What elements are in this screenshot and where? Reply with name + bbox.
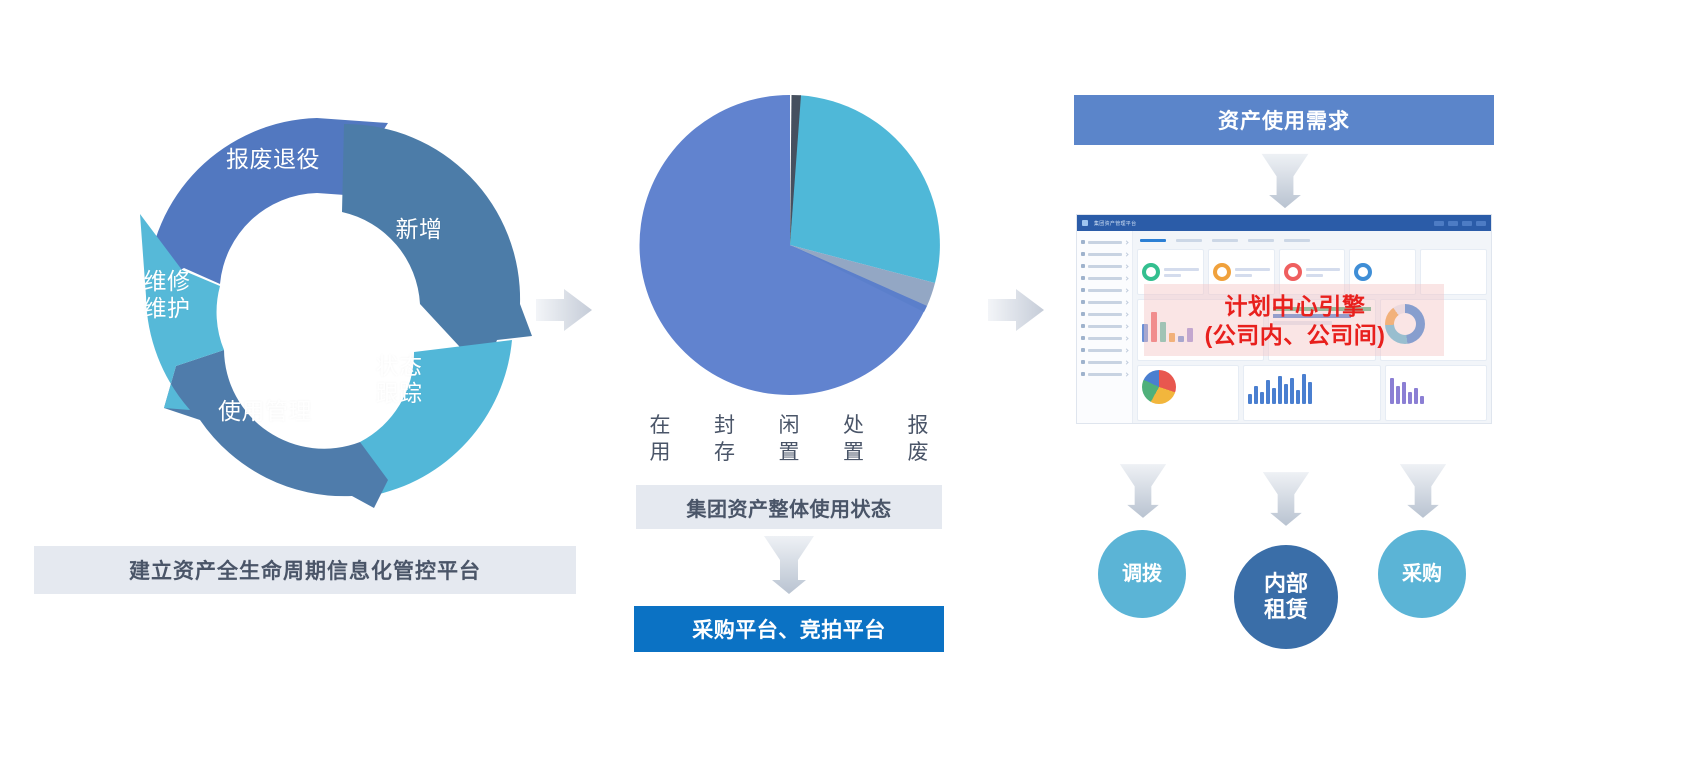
sidebar-item-label: [1088, 241, 1122, 244]
sidebar-item[interactable]: [1081, 308, 1128, 320]
flow-arrow-down-icon: [1398, 462, 1448, 520]
mini-bar-chart-blue: [1248, 370, 1376, 404]
mini-bar: [1254, 386, 1258, 404]
chevron-down-icon: [1124, 240, 1128, 244]
sidebar-item-icon: [1081, 252, 1085, 256]
kpi-text: [1164, 268, 1199, 277]
cycle-label-scrap: 报废退役: [198, 146, 348, 173]
dashboard-tab[interactable]: [1140, 239, 1166, 242]
sidebar-item-icon: [1081, 276, 1085, 280]
sidebar-item-label: [1088, 289, 1122, 292]
mini-bar: [1414, 388, 1418, 404]
sidebar-item[interactable]: [1081, 248, 1128, 260]
kpi-line: [1164, 268, 1199, 271]
plan-engine-overlay-text: 计划中心引擎 (公司内、公司间): [1140, 286, 1450, 356]
chevron-down-icon: [1124, 360, 1128, 364]
mini-bar: [1248, 394, 1252, 404]
chart-card-bars-purple[interactable]: [1385, 365, 1487, 421]
sidebar-item-label: [1088, 361, 1122, 364]
mini-bar: [1402, 382, 1406, 404]
legend-label-line2: 废: [908, 441, 929, 464]
legend-item-fengcun[interactable]: 封 存: [699, 400, 751, 460]
chevron-down-icon: [1124, 276, 1128, 280]
sidebar-item[interactable]: [1081, 272, 1128, 284]
plan-engine-overlay-line1: 计划中心引擎: [1225, 292, 1366, 321]
legend-label-line2: 用: [650, 441, 671, 464]
legend-item-baofei[interactable]: 报 废: [892, 400, 944, 460]
mini-bar: [1396, 386, 1400, 404]
titlebar-action-icon[interactable]: [1476, 221, 1486, 226]
chevron-down-icon: [1124, 336, 1128, 340]
plan-engine-overlay-line2: (公司内、公司间): [1205, 321, 1386, 350]
flow-arrow-down-icon: [1258, 152, 1312, 210]
sidebar-item-label: [1088, 325, 1122, 328]
kpi-ring-icon: [1284, 263, 1302, 281]
legend-item-chuzhi[interactable]: 处 置: [828, 400, 880, 460]
sidebar-item[interactable]: [1081, 344, 1128, 356]
mini-bar: [1408, 392, 1412, 404]
sidebar-item-icon: [1081, 336, 1085, 340]
sidebar-item-label: [1088, 373, 1122, 376]
mini-bar: [1296, 390, 1300, 404]
sidebar-item-icon: [1081, 300, 1085, 304]
chevron-down-icon: [1124, 324, 1128, 328]
sidebar-item[interactable]: [1081, 356, 1128, 368]
sidebar-item[interactable]: [1081, 260, 1128, 272]
sidebar-item-icon: [1081, 372, 1085, 376]
mini-bar: [1302, 374, 1306, 404]
mini-bar: [1390, 378, 1394, 404]
mini-bar: [1260, 392, 1264, 404]
sidebar-item-label: [1088, 313, 1122, 316]
kpi-line: [1306, 274, 1323, 277]
chevron-down-icon: [1124, 288, 1128, 292]
mini-bar: [1272, 388, 1276, 404]
dashboard-tab[interactable]: [1212, 239, 1238, 242]
sidebar-item-label: [1088, 265, 1122, 268]
dashboard-titlebar: 集团资产管理平台: [1077, 215, 1491, 231]
sidebar-item-label: [1088, 349, 1122, 352]
dashboard-chart-row-2: [1137, 365, 1487, 421]
chart-card-bars-blue[interactable]: [1243, 365, 1381, 421]
legend-label-xianzhi: 闲 置: [779, 412, 800, 467]
legend-label-baofei: 报 废: [908, 412, 929, 467]
kpi-line: [1235, 268, 1270, 271]
sidebar-item-icon: [1081, 240, 1085, 244]
outcome-circle-transfer[interactable]: 调拨: [1098, 530, 1186, 618]
lifecycle-platform-banner: 建立资产全生命周期信息化管控平台: [34, 546, 576, 594]
mini-bar: [1308, 382, 1312, 404]
cycle-label-maintenance-line2: 维护: [144, 295, 191, 321]
cycle-label-status-line2: 跟踪: [376, 380, 423, 406]
mini-bar: [1278, 376, 1282, 404]
legend-label-line1: 在: [650, 414, 671, 437]
kpi-line: [1164, 274, 1181, 277]
kpi-ring-icon: [1354, 263, 1372, 281]
sidebar-item[interactable]: [1081, 236, 1128, 248]
cycle-label-use: 使用管理: [190, 398, 340, 425]
legend-label-line2: 置: [843, 441, 864, 464]
chevron-down-icon: [1124, 372, 1128, 376]
legend-label-zaiyong: 在 用: [650, 412, 671, 467]
cycle-label-status: 状态 跟踪: [354, 353, 444, 406]
mini-bar: [1284, 384, 1288, 404]
chevron-down-icon: [1124, 252, 1128, 256]
pie-chart-mini: [1142, 370, 1176, 404]
dashboard-tab[interactable]: [1284, 239, 1310, 242]
legend-label-line1: 报: [908, 414, 929, 437]
sidebar-item[interactable]: [1081, 320, 1128, 332]
cycle-label-maintenance-line1: 维修: [144, 268, 191, 294]
lifecycle-cycle-diagram: 报废退役 新增 状态 跟踪 使用管理 维修 维护: [112, 108, 532, 508]
outcome-circle-purchase[interactable]: 采购: [1378, 530, 1466, 618]
mini-bar: [1266, 380, 1270, 404]
flow-arrow-right-icon: [534, 285, 594, 335]
kpi-line: [1235, 274, 1252, 277]
sidebar-item[interactable]: [1081, 332, 1128, 344]
sidebar-item-icon: [1081, 360, 1085, 364]
dashboard-logo-icon: [1082, 220, 1088, 226]
outcome-label-lease-line1: 内部: [1264, 571, 1308, 596]
titlebar-action-icon[interactable]: [1434, 221, 1444, 226]
cycle-label-maintenance: 维修 维护: [122, 268, 212, 321]
sidebar-item-icon: [1081, 288, 1085, 292]
cycle-label-status-line1: 状态: [376, 353, 423, 379]
titlebar-action-icon[interactable]: [1462, 221, 1472, 226]
legend-label-chuzhi: 处 置: [843, 412, 864, 467]
sidebar-item-label: [1088, 301, 1122, 304]
sidebar-item[interactable]: [1081, 296, 1128, 308]
outcome-label-lease: 内部 租赁: [1264, 571, 1308, 624]
chevron-down-icon: [1124, 312, 1128, 316]
legend-label-line2: 存: [714, 441, 735, 464]
flow-arrow-down-icon: [1261, 470, 1311, 528]
mini-bar: [1290, 378, 1294, 404]
legend-label-fengcun: 封 存: [714, 412, 735, 467]
chevron-down-icon: [1124, 348, 1128, 352]
sidebar-item-label: [1088, 253, 1122, 256]
legend-label-line1: 封: [714, 414, 735, 437]
flow-arrow-down-icon: [762, 534, 816, 596]
flow-arrow-right-icon: [986, 285, 1046, 335]
sidebar-item-icon: [1081, 324, 1085, 328]
titlebar-action-icon[interactable]: [1448, 221, 1458, 226]
kpi-ring-icon: [1142, 263, 1160, 281]
infographic-canvas: 报废退役 新增 状态 跟踪 使用管理 维修 维护 建立资产全生命周期信息化管控平…: [0, 0, 1689, 780]
dashboard-tabs[interactable]: [1137, 235, 1487, 245]
outcome-circle-internal-lease[interactable]: 内部 租赁: [1234, 545, 1338, 649]
dashboard-sidebar[interactable]: [1077, 231, 1133, 424]
legend-item-xianzhi[interactable]: 闲 置: [763, 400, 815, 460]
sidebar-item[interactable]: [1081, 368, 1128, 380]
sidebar-item-label: [1088, 277, 1122, 280]
dashboard-tab[interactable]: [1248, 239, 1274, 242]
dashboard-tab[interactable]: [1176, 239, 1202, 242]
dashboard-title: 集团资产管理平台: [1094, 220, 1136, 227]
sidebar-item-icon: [1081, 348, 1085, 352]
pie-legend: 在 用 封 存 闲 置 处 置: [634, 400, 944, 460]
mini-bar-chart-purple: [1390, 370, 1482, 404]
asset-demand-banner: 资产使用需求: [1074, 95, 1494, 145]
cycle-label-new: 新增: [374, 216, 464, 243]
legend-label-line1: 闲: [779, 414, 800, 437]
dashboard-titlebar-actions: [1434, 221, 1486, 226]
group-asset-status-banner: 集团资产整体使用状态: [636, 485, 942, 529]
asset-status-pie-chart: [630, 80, 950, 410]
mini-bar: [1420, 396, 1424, 404]
sidebar-item-label: [1088, 337, 1122, 340]
procurement-platform-banner: 采购平台、竞拍平台: [634, 606, 944, 652]
pie-graphic: [630, 80, 950, 410]
sidebar-item[interactable]: [1081, 284, 1128, 296]
sidebar-item-icon: [1081, 312, 1085, 316]
chevron-down-icon: [1124, 264, 1128, 268]
outcome-label-lease-line2: 租赁: [1264, 597, 1308, 622]
kpi-text: [1235, 268, 1270, 277]
chevron-down-icon: [1124, 300, 1128, 304]
legend-label-line1: 处: [843, 414, 864, 437]
legend-label-line2: 置: [779, 441, 800, 464]
sidebar-item-icon: [1081, 264, 1085, 268]
legend-item-zaiyong[interactable]: 在 用: [634, 400, 686, 460]
kpi-line: [1306, 268, 1341, 271]
kpi-text: [1306, 268, 1341, 277]
chart-card-pie[interactable]: [1137, 365, 1239, 421]
kpi-ring-icon: [1213, 263, 1231, 281]
flow-arrow-down-icon: [1118, 462, 1168, 520]
